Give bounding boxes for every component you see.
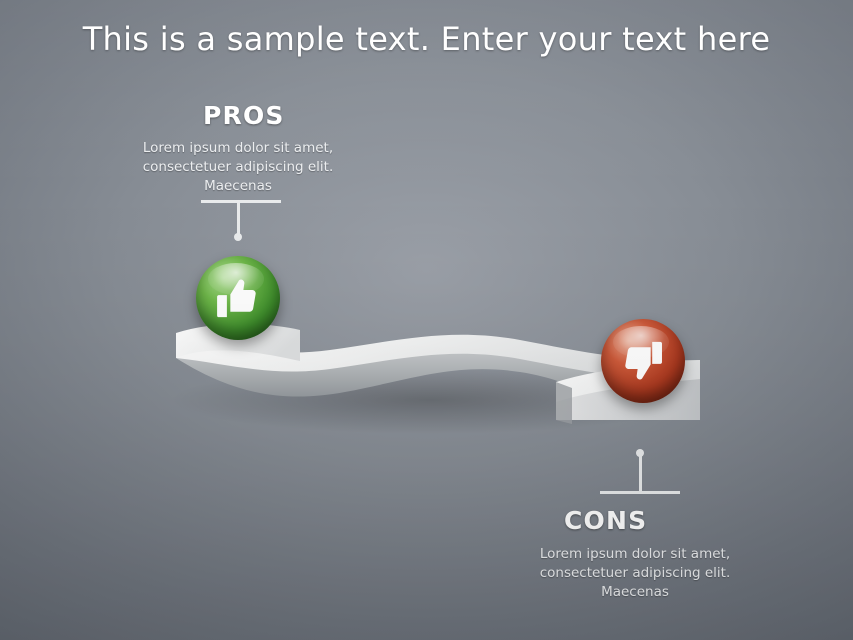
cons-connector-bar: [600, 491, 680, 494]
cons-body-text: Lorem ipsum dolor sit amet, consectetuer…: [505, 545, 765, 602]
pros-connector-stem: [237, 200, 240, 236]
pros-connector-bar: [201, 200, 281, 203]
cons-connector-stem: [639, 452, 642, 492]
pros-heading: PROS: [203, 101, 285, 130]
pros-connector-dot: [234, 233, 242, 241]
thumbs-down-icon: [601, 319, 685, 403]
pros-body-text: Lorem ipsum dolor sit amet, consectetuer…: [108, 139, 368, 196]
pros-sphere[interactable]: [196, 256, 280, 340]
cons-sphere[interactable]: [601, 319, 685, 403]
ribbon-graphic: [0, 0, 853, 640]
cons-heading: CONS: [564, 506, 647, 535]
thumbs-up-icon: [196, 256, 280, 340]
slide-canvas: This is a sample text. Enter your text h…: [0, 0, 853, 640]
